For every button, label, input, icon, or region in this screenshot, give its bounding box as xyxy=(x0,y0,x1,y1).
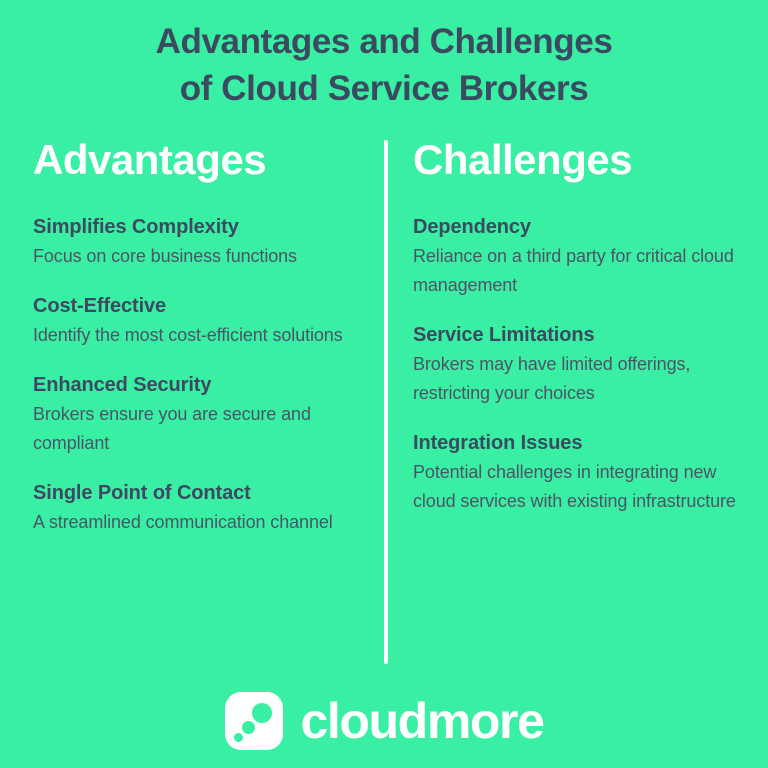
item-description: Focus on core business functions xyxy=(33,242,348,271)
list-item: Enhanced Security Brokers ensure you are… xyxy=(33,372,348,458)
list-item: Dependency Reliance on a third party for… xyxy=(413,214,748,300)
comparison-columns: Advantages Simplifies Complexity Focus o… xyxy=(0,134,768,537)
logo-dot-small xyxy=(234,733,243,742)
logo-dot-medium xyxy=(242,721,255,734)
item-title: Simplifies Complexity xyxy=(33,214,348,240)
column-divider xyxy=(384,140,388,664)
item-title: Service Limitations xyxy=(413,322,748,348)
title-line-2: of Cloud Service Brokers xyxy=(0,65,768,112)
logo-wordmark: cloudmore xyxy=(301,695,544,747)
item-description: Potential challenges in integrating new … xyxy=(413,458,748,516)
item-title: Single Point of Contact xyxy=(33,480,348,506)
advantages-heading: Advantages xyxy=(33,134,348,186)
title-line-1: Advantages and Challenges xyxy=(0,18,768,65)
item-description: Reliance on a third party for critical c… xyxy=(413,242,748,300)
item-description: Brokers ensure you are secure and compli… xyxy=(33,400,348,458)
item-title: Integration Issues xyxy=(413,430,748,456)
list-item: Cost-Effective Identify the most cost-ef… xyxy=(33,293,348,350)
item-title: Cost-Effective xyxy=(33,293,348,319)
advantages-column: Advantages Simplifies Complexity Focus o… xyxy=(0,134,384,537)
list-item: Simplifies Complexity Focus on core busi… xyxy=(33,214,348,271)
item-title: Enhanced Security xyxy=(33,372,348,398)
infographic-poster: Advantages and Challenges of Cloud Servi… xyxy=(0,0,768,768)
challenges-heading: Challenges xyxy=(413,134,748,186)
challenges-column: Challenges Dependency Reliance on a thir… xyxy=(384,134,768,537)
page-title: Advantages and Challenges of Cloud Servi… xyxy=(0,0,768,112)
item-description: Identify the most cost-efficient solutio… xyxy=(33,321,348,350)
list-item: Single Point of Contact A streamlined co… xyxy=(33,480,348,537)
item-title: Dependency xyxy=(413,214,748,240)
brand-logo: cloudmore xyxy=(0,692,768,750)
list-item: Integration Issues Potential challenges … xyxy=(413,430,748,516)
logo-dot-large xyxy=(252,703,272,723)
list-item: Service Limitations Brokers may have lim… xyxy=(413,322,748,408)
cloudmore-dots-icon xyxy=(225,692,283,750)
item-description: A streamlined communication channel xyxy=(33,508,348,537)
item-description: Brokers may have limited offerings, rest… xyxy=(413,350,748,408)
